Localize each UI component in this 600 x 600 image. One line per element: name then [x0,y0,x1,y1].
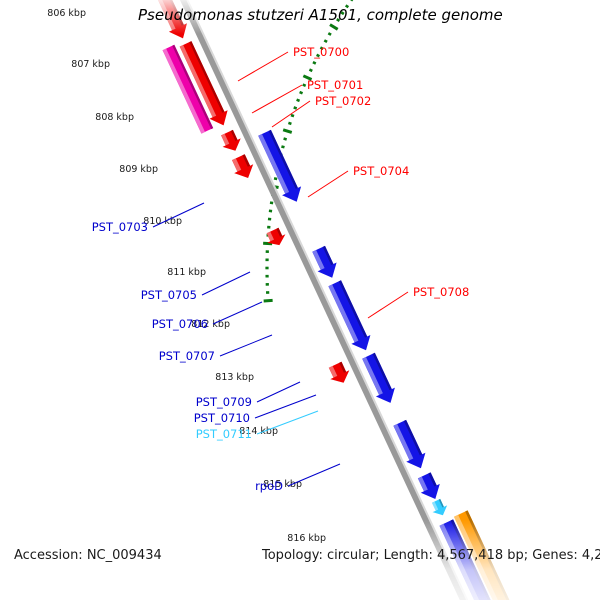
feature-label-text: PST_0701 [307,78,363,92]
genome-viewer: 806 kbp807 kbp808 kbp809 kbp810 kbp811 k… [0,0,600,600]
feature-label-text: PST_0702 [315,94,371,108]
feature-label-text: PST_0706 [152,317,208,331]
leader-line [257,382,300,402]
gene-feature-pst-0708[interactable] [329,362,350,383]
feature-label-pst-0702[interactable]: PST_0702 [272,94,371,127]
accession-label: Accession: NC_009434 [14,548,162,563]
axis-tick-label: 816 kbp [287,533,326,544]
feature-label-text: PST_0711 [196,427,252,441]
gene-feature-pst-0705[interactable] [312,246,336,278]
genome-map-canvas[interactable]: 806 kbp807 kbp808 kbp809 kbp810 kbp811 k… [0,0,600,600]
gene-feature-pst-0704[interactable] [267,228,286,245]
genome-stats-label: Topology: circular; Length: 4,567,418 bp… [261,548,600,563]
feature-label-pst-0708[interactable]: PST_0708 [368,285,469,318]
axis-tick-label: 811 kbp [167,267,206,278]
feature-label-text: PST_0708 [413,285,469,299]
axis-tick-label: 809 kbp [119,164,158,175]
leader-line [213,302,262,324]
feature-label-pst-0700[interactable]: PST_0700 [238,45,349,81]
gene-feature-pst-0710[interactable] [418,472,440,499]
leader-line [368,292,408,318]
axis-tick-label: 808 kbp [95,112,134,123]
feature-label-text: PST_0707 [159,349,215,363]
feature-label-pst-0704[interactable]: PST_0704 [308,164,409,197]
feature-label-pst-0706[interactable]: PST_0706 [152,302,262,331]
feature-label-text: PST_0709 [196,395,252,409]
feature-label-text: PST_0703 [92,220,148,234]
leader-line [308,171,348,197]
gene-feature-pst-0703-small-red[interactable] [232,154,253,178]
axis-tick-label: 810 kbp [143,216,182,227]
page-title: Pseudomonas stutzeri A1501, complete gen… [138,6,503,24]
leader-line [257,411,318,434]
feature-label-text: PST_0710 [194,411,250,425]
leader-line [288,464,340,486]
feature-label-pst-0707[interactable]: PST_0707 [159,335,272,363]
gene-feature-pst-0711[interactable] [432,499,447,515]
feature-label-text: rpoD [255,479,283,493]
gene-feature-pst-0702-shape[interactable] [221,130,241,151]
axis-tick-label: 807 kbp [71,59,110,70]
feature-label-pst-0709[interactable]: PST_0709 [196,382,300,409]
feature-label-text: PST_0700 [293,45,349,59]
feature-label-text: PST_0705 [141,288,197,302]
feature-label-text: PST_0704 [353,164,409,178]
feature-label-group[interactable]: PST_0700PST_0701PST_0702PST_0704PST_0708… [92,45,470,493]
axis-tick-label: 806 kbp [47,8,86,19]
leader-line [238,52,288,81]
leader-line [202,272,250,295]
axis-tick-label: 813 kbp [215,372,254,383]
leader-line [220,335,272,356]
